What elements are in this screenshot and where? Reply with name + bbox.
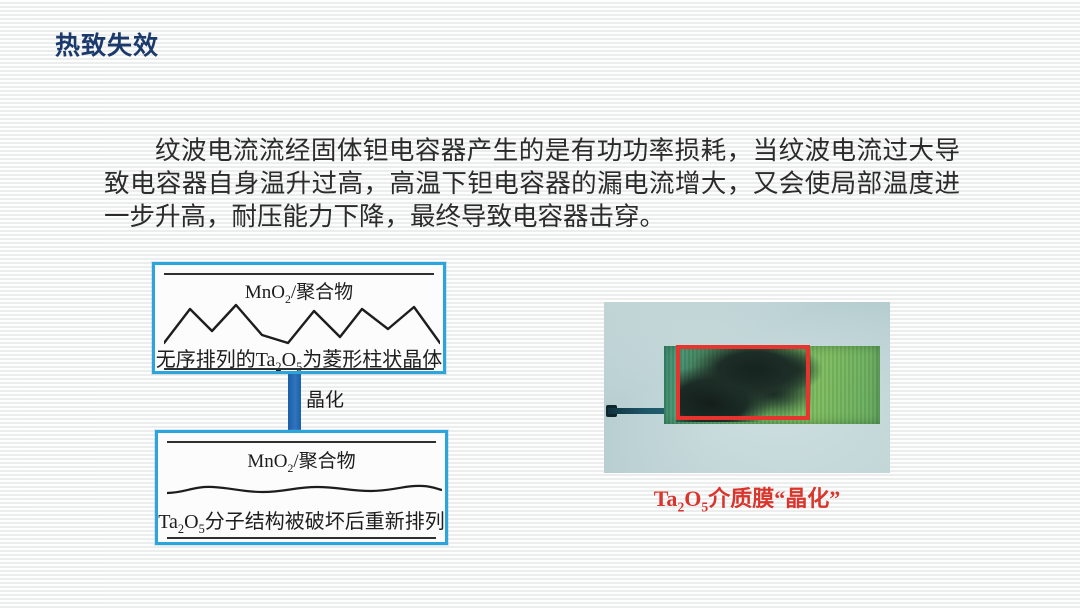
- caption-b: O: [684, 486, 701, 511]
- lead-wire: [608, 408, 668, 414]
- caption-c: 介质膜“晶化”: [708, 486, 840, 511]
- jagged-crystal-line: [164, 303, 440, 345]
- highlight-rectangle: [676, 345, 810, 420]
- caption-a: Ta: [654, 486, 678, 511]
- divider-line-bottom: [167, 537, 436, 539]
- crystallization-diagram: MnO2/聚合物 无序排列的Ta2O5为菱形柱状晶体 晶化 MnO2/聚合物 T…: [0, 0, 1080, 608]
- wavy-rearranged-line: [167, 481, 442, 497]
- diagram-box-after: MnO2/聚合物 Ta2O5分子结构被破坏后重新排列: [155, 430, 448, 545]
- divider-line-top: [167, 441, 436, 443]
- process-connector-bar: [288, 374, 301, 431]
- divider-line-bottom: [164, 368, 434, 370]
- bottom-box-upper-label: MnO2/聚合物: [158, 446, 445, 476]
- failure-photograph: [604, 302, 890, 473]
- top-box-upper-label-tail: /聚合物: [291, 282, 353, 303]
- slide-canvas: 热致失效 纹波电流流经固体钽电容器产生的是有功功率损耗，当纹波电流过大导致电容器…: [0, 0, 1080, 608]
- photo-caption: Ta2O5介质膜“晶化”: [604, 481, 890, 515]
- top-box-lower-label: 无序排列的Ta2O5为菱形柱状晶体: [155, 343, 443, 375]
- bottom-box-upper-tail: /聚合物: [293, 451, 355, 472]
- bottom-box-lower-c: 分子结构被破坏后重新排列: [205, 511, 445, 533]
- bottom-box-lower-b: O: [184, 511, 198, 533]
- bottom-box-lower-a: Ta: [158, 511, 178, 533]
- bottom-box-lower-label: Ta2O5分子结构被破坏后重新排列: [158, 505, 445, 537]
- bottom-box-upper-main: MnO: [247, 451, 287, 472]
- divider-line-top: [164, 273, 434, 275]
- connector-label: 晶化: [306, 385, 344, 412]
- top-box-upper-label-main: MnO: [245, 282, 285, 303]
- diagram-box-before: MnO2/聚合物 无序排列的Ta2O5为菱形柱状晶体: [152, 262, 446, 374]
